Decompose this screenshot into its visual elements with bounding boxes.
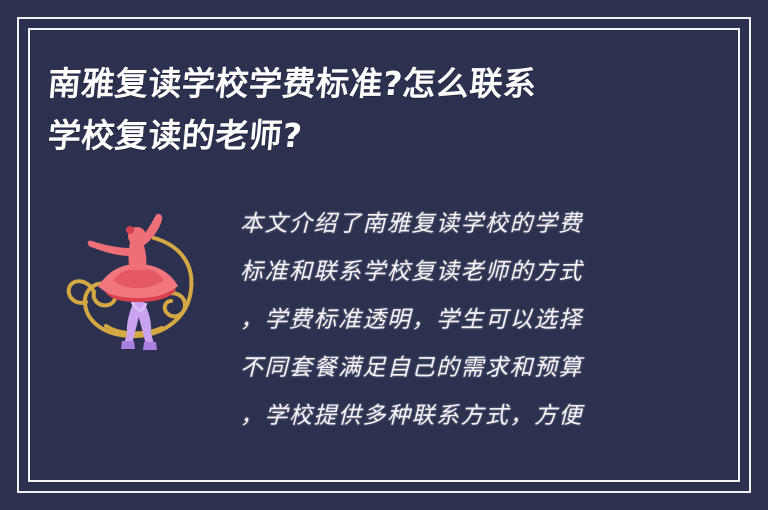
content-area: 本文介绍了南雅复读学校的学费 标准和联系学校复读老师的方式 ，学费标准透明，学生… bbox=[48, 196, 720, 440]
page-title: 南雅复读学校学费标准?怎么联系 学校复读的老师? bbox=[48, 58, 688, 162]
body-paragraph: 本文介绍了南雅复读学校的学费 标准和联系学校复读老师的方式 ，学费标准透明，学生… bbox=[240, 196, 720, 440]
body-line-2: 标准和联系学校复读老师的方式 bbox=[240, 248, 720, 296]
body-line-5: ，学校提供多种联系方式，方便 bbox=[240, 392, 720, 440]
title-line-2: 学校复读的老师? bbox=[46, 110, 691, 162]
body-line-3: ，学费标准透明，学生可以选择 bbox=[240, 296, 720, 344]
ballerina-with-ribbon-icon bbox=[58, 202, 218, 372]
title-line-1: 南雅复读学校学费标准?怎么联系 bbox=[46, 58, 691, 110]
body-line-4: 不同套餐满足自己的需求和预算 bbox=[240, 344, 720, 392]
poster-canvas: 南雅复读学校学费标准?怎么联系 学校复读的老师? bbox=[0, 0, 768, 510]
body-line-1: 本文介绍了南雅复读学校的学费 bbox=[240, 200, 720, 248]
